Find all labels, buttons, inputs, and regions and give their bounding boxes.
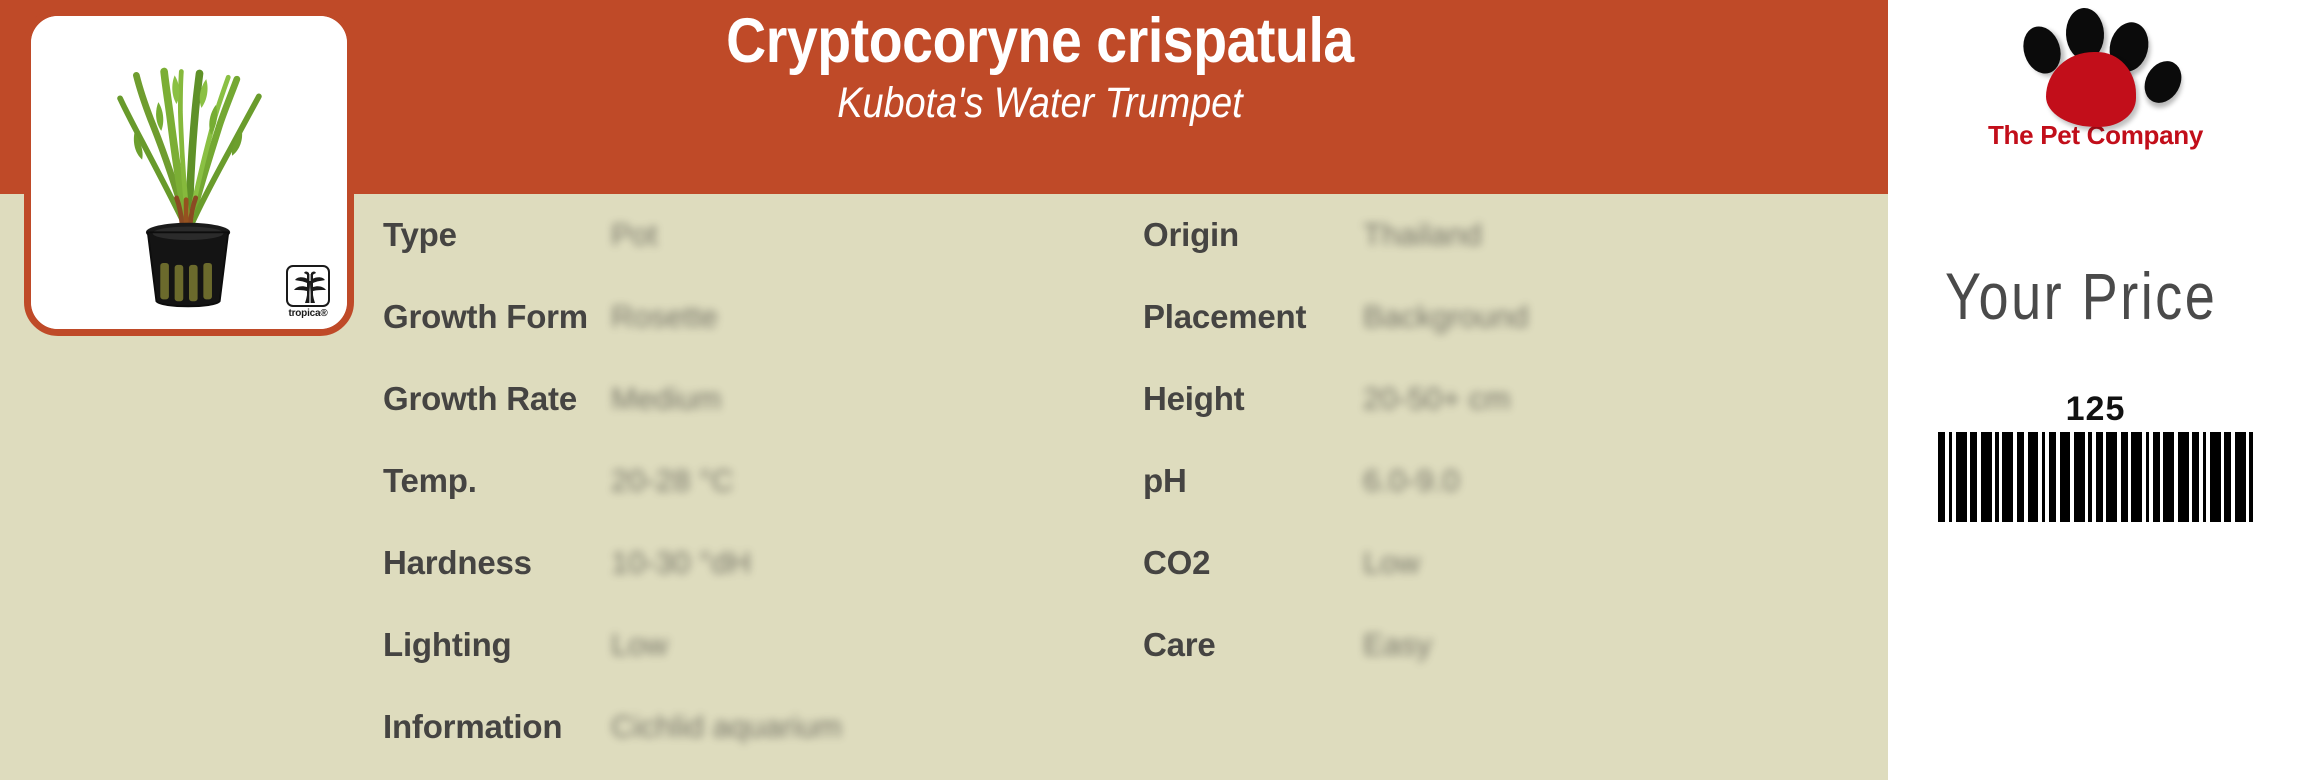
attribute-label-care: Care xyxy=(1143,626,1363,664)
attribute-row-lighting: Lighting Low xyxy=(383,604,1143,686)
attribute-value-type: Pot xyxy=(611,217,658,253)
attribute-label-placement: Placement xyxy=(1143,298,1363,336)
product-photo-card: tropica® xyxy=(24,9,354,336)
attribute-label-hardness: Hardness xyxy=(383,544,611,582)
attribute-value-origin: Thailand xyxy=(1363,217,1482,253)
attribute-value-information: Cichlid aquarium xyxy=(611,709,842,745)
attribute-label-information: Information xyxy=(383,708,611,746)
shelf-label: Cryptocoryne crispatula Kubota's Water T… xyxy=(0,0,2303,780)
paw-print-icon xyxy=(2006,4,2186,124)
price-heading: Your Price xyxy=(1888,258,2228,334)
item-code: 125 xyxy=(1888,390,2303,429)
attribute-row-height: Height 20-50+ cm xyxy=(1143,358,1883,440)
tropica-glyph xyxy=(288,267,330,307)
title-block: Cryptocoryne crispatula Kubota's Water T… xyxy=(360,8,1720,127)
attribute-column-right: Origin Thailand Placement Background Hei… xyxy=(1143,194,1883,686)
paw-toe-4 xyxy=(2137,54,2188,109)
attribute-row-hardness: Hardness 10-30 °dH xyxy=(383,522,1143,604)
attribute-row-temp: Temp. 20-28 °C xyxy=(383,440,1143,522)
attribute-row-co2: CO2 Low xyxy=(1143,522,1883,604)
attribute-value-placement: Background xyxy=(1363,299,1528,335)
attribute-column-left: Type Pot Growth Form Rosette Growth Rate… xyxy=(383,194,1143,768)
attribute-label-ph: pH xyxy=(1143,462,1363,500)
tropica-badge: tropica® xyxy=(281,265,335,323)
attribute-label-height: Height xyxy=(1143,380,1363,418)
attribute-row-growth-form: Growth Form Rosette xyxy=(383,276,1143,358)
common-name: Kubota's Water Trumpet xyxy=(442,80,1639,127)
attribute-label-growth-form: Growth Form xyxy=(383,298,611,336)
attribute-value-growth-rate: Medium xyxy=(611,381,721,417)
price-panel: The Pet Company Your Price 125 xyxy=(1888,0,2303,780)
attribute-row-type: Type Pot xyxy=(383,194,1143,276)
attribute-value-height: 20-50+ cm xyxy=(1363,381,1510,417)
attribute-value-temp: 20-28 °C xyxy=(611,463,734,499)
attribute-value-hardness: 10-30 °dH xyxy=(611,545,751,581)
tropica-plant-icon xyxy=(286,265,330,307)
attribute-row-ph: pH 6.0-9.0 xyxy=(1143,440,1883,522)
attribute-label-origin: Origin xyxy=(1143,216,1363,254)
attribute-label-lighting: Lighting xyxy=(383,626,611,664)
brand-logo: The Pet Company xyxy=(1888,4,2303,174)
attribute-label-growth-rate: Growth Rate xyxy=(383,380,611,418)
barcode-bar xyxy=(2249,432,2253,522)
attribute-label-temp: Temp. xyxy=(383,462,611,500)
attribute-row-placement: Placement Background xyxy=(1143,276,1883,358)
attribute-value-growth-form: Rosette xyxy=(611,299,718,335)
attribute-value-lighting: Low xyxy=(611,627,668,663)
attribute-row-information: Information Cichlid aquarium xyxy=(383,686,1143,768)
tropica-wordmark: tropica® xyxy=(281,309,335,319)
attribute-label-type: Type xyxy=(383,216,611,254)
attribute-row-origin: Origin Thailand xyxy=(1143,194,1883,276)
attribute-value-care: Easy xyxy=(1363,627,1432,663)
barcode xyxy=(1888,432,2303,522)
attribute-value-ph: 6.0-9.0 xyxy=(1363,463,1460,499)
attribute-label-co2: CO2 xyxy=(1143,544,1363,582)
attribute-value-co2: Low xyxy=(1363,545,1420,581)
attribute-row-care: Care Easy xyxy=(1143,604,1883,686)
species-name: Cryptocoryne crispatula xyxy=(442,8,1639,74)
attribute-row-growth-rate: Growth Rate Medium xyxy=(383,358,1143,440)
